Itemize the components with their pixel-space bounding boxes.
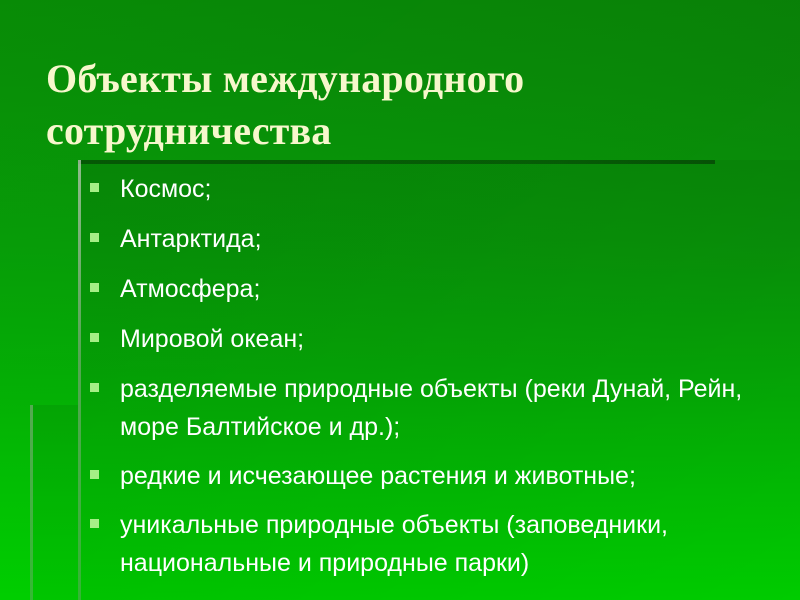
slide-title-line-2: сотрудничества — [46, 105, 746, 157]
square-bullet-icon — [90, 470, 99, 479]
square-bullet-icon — [90, 283, 99, 292]
list-item: Космос; — [88, 170, 768, 208]
list-item: уникальные природные объекты (заповедник… — [88, 506, 768, 582]
list-item: Атмосфера; — [88, 270, 768, 308]
square-bullet-icon — [90, 383, 99, 392]
lower-accent-band — [30, 405, 78, 600]
square-bullet-icon — [90, 333, 99, 342]
list-item: разделяемые природные объекты (реки Дуна… — [88, 370, 768, 446]
lower-vertical-rule — [30, 405, 33, 600]
slide-title: Объекты международного сотрудничества — [46, 53, 746, 157]
slide-title-line-1: Объекты международного — [46, 53, 746, 105]
list-item-label: редкие и исчезающее растения и животные; — [120, 457, 768, 495]
list-item: редкие и исчезающее растения и животные; — [88, 457, 768, 495]
square-bullet-icon — [90, 519, 99, 528]
square-bullet-icon — [90, 183, 99, 192]
presentation-slide: Объекты международного сотрудничества Ко… — [0, 0, 800, 600]
list-item: Мировой океан; — [88, 320, 768, 358]
title-divider-rule — [78, 160, 715, 164]
list-item: Антарктида; — [88, 220, 768, 258]
square-bullet-icon — [90, 233, 99, 242]
list-item-label: уникальные природные объекты (заповедник… — [120, 506, 768, 582]
list-item-label: разделяемые природные объекты (реки Дуна… — [120, 370, 768, 446]
bullet-list: Космос; Антарктида; Атмосфера; Мировой о… — [88, 170, 768, 593]
list-item-label: Антарктида; — [120, 220, 768, 258]
vertical-divider-rule — [78, 160, 81, 600]
list-item-label: Мировой океан; — [120, 320, 768, 358]
list-item-label: Космос; — [120, 170, 768, 208]
list-item-label: Атмосфера; — [120, 270, 768, 308]
